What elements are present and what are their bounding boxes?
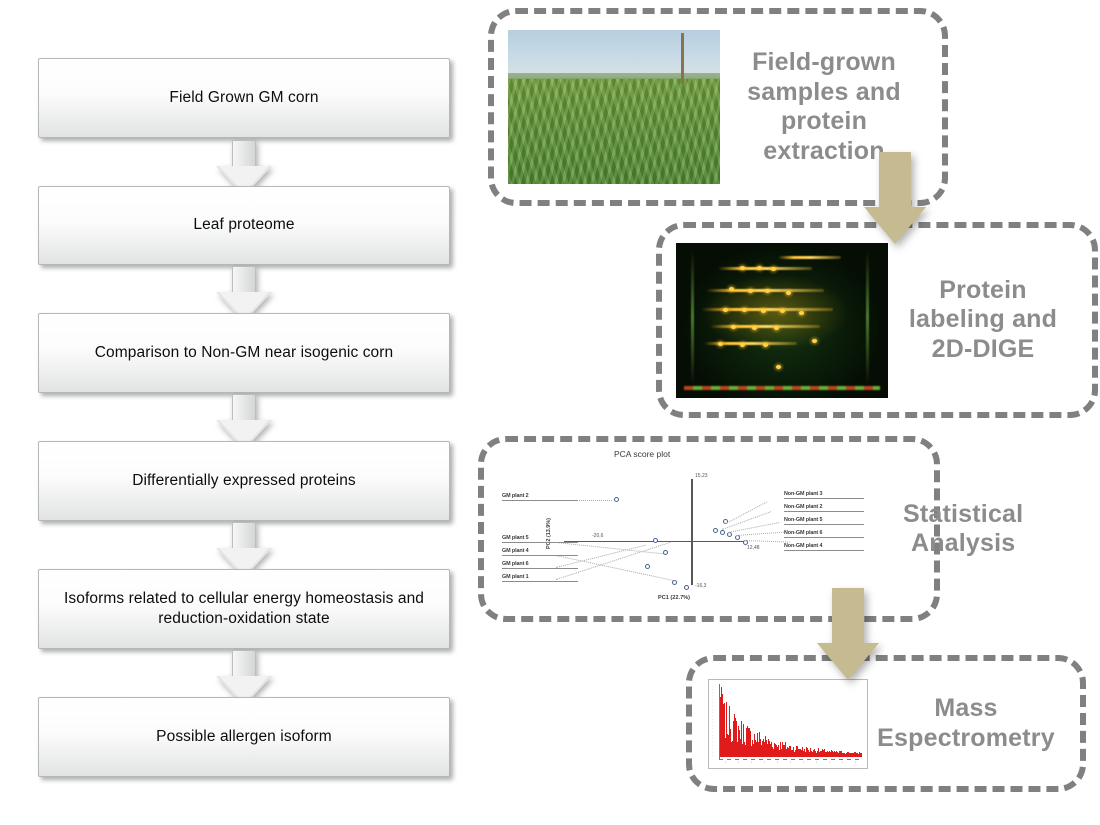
pca-y-axis-label: PC2 (13.9%) (546, 518, 552, 549)
panel-mass-spectrometry-caption: Mass Espectrometry (868, 694, 1064, 753)
flow-step-2[interactable]: Leaf proteome (38, 186, 450, 265)
corn-field-photo (508, 30, 720, 184)
flow-step-4-label: Differentially expressed proteins (132, 471, 356, 491)
panel-protein-labeling-caption: Protein labeling and 2D-DIGE (888, 276, 1078, 365)
pca-title: PCA score plot (614, 449, 670, 459)
pca-point-gm-3 (684, 585, 689, 590)
pca-label-nongm-2: Non-GM plant 2 (784, 504, 864, 512)
pca-point-gm-6 (645, 564, 650, 569)
pca-point-gm-5 (653, 538, 658, 543)
panel-field-sampling-caption: Field-grown samples and protein extracti… (720, 48, 928, 166)
flow-step-3-label: Comparison to Non-GM near isogenic corn (95, 343, 394, 363)
pca-tick-xleft: -20,6 (592, 533, 603, 539)
pca-label-gm-4: GM plant 4 (502, 548, 578, 556)
2d-dige-gel-image (676, 243, 888, 398)
panel-mass-spectrometry[interactable]: ----------------------||||||||||| Mass E… (686, 655, 1086, 792)
mass-spectrum-plot: ----------------------||||||||||| (708, 679, 868, 769)
pca-y-axis (691, 479, 693, 585)
pca-label-nongm-3: Non-GM plant 3 (784, 491, 864, 499)
flow-step-5[interactable]: Isoforms related to cellular energy home… (38, 569, 450, 649)
flow-step-5-label: Isoforms related to cellular energy home… (53, 589, 435, 630)
pca-label-nongm-4: Non-GM plant 4 (784, 543, 864, 551)
flow-step-6-label: Possible allergen isoform (156, 727, 332, 747)
pca-point-gm-4 (663, 550, 668, 555)
flow-step-6[interactable]: Possible allergen isoform (38, 697, 450, 777)
panel-protein-labeling[interactable]: Protein labeling and 2D-DIGE (656, 222, 1098, 418)
panel-statistical-analysis-caption: Statistical Analysis (903, 500, 1023, 559)
pca-tick-ytop: 15,23 (695, 473, 708, 479)
flow-step-1-label: Field Grown GM corn (169, 88, 318, 108)
flow-step-3[interactable]: Comparison to Non-GM near isogenic corn (38, 313, 450, 393)
pca-label-nongm-6: Non-GM plant 6 (784, 530, 864, 538)
pca-label-gm-5: GM plant 5 (502, 535, 578, 543)
flow-step-4[interactable]: Differentially expressed proteins (38, 441, 450, 521)
pca-point-nongm-5 (720, 530, 725, 535)
pca-tick-xright: 12,48 (747, 545, 760, 551)
pca-label-nongm-5: Non-GM plant 5 (784, 517, 864, 525)
flow-step-2-label: Leaf proteome (193, 215, 294, 235)
pca-label-gm-2: GM plant 2 (502, 493, 578, 501)
pca-point-gm-2 (614, 497, 619, 502)
arrow-stats-to-ms-icon (817, 588, 879, 680)
pca-label-gm-6: GM plant 6 (502, 561, 578, 569)
pca-point-nongm-2 (713, 528, 718, 533)
arrow-field-to-dige-icon (864, 152, 926, 244)
flow-step-1[interactable]: Field Grown GM corn (38, 58, 450, 138)
pca-tick-ybot: -16,3 (695, 583, 706, 589)
diagram-canvas: Field Grown GM corn Leaf proteome Compar… (0, 0, 1100, 825)
pca-x-axis-label: PC1 (22.7%) (658, 595, 690, 601)
pca-label-gm-1: GM plant 1 (502, 574, 578, 582)
